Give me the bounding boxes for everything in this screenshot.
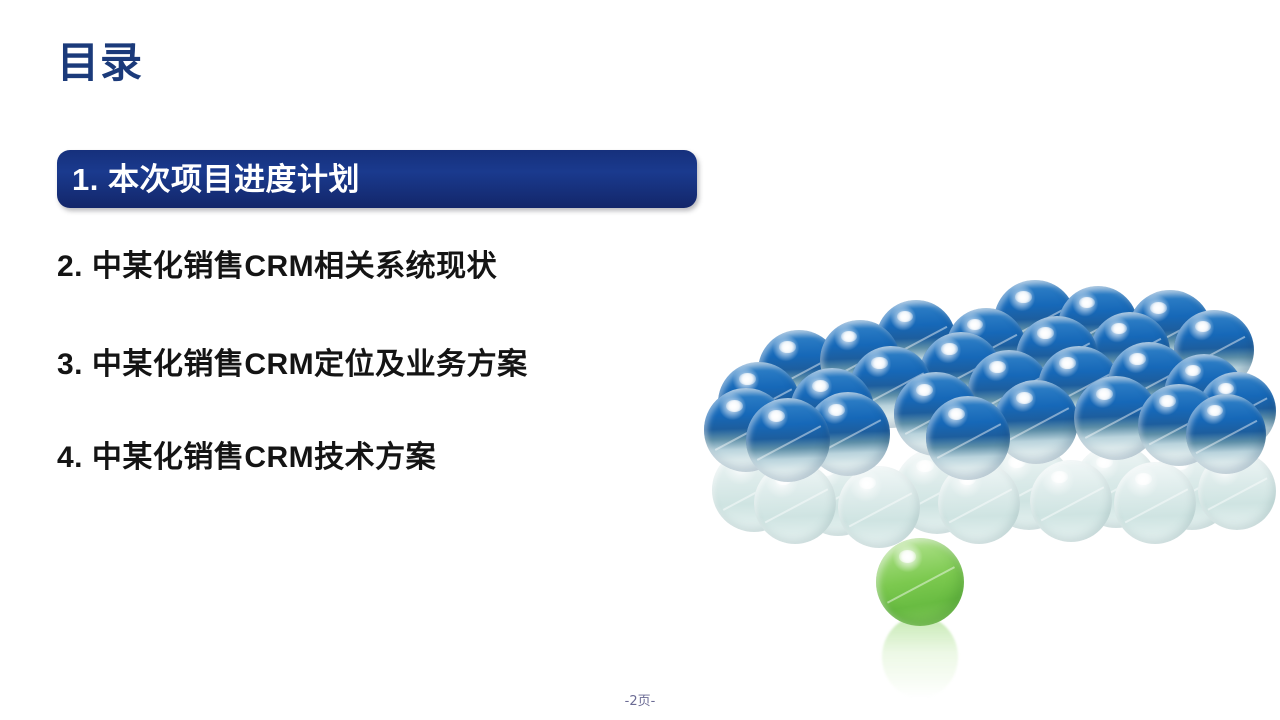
marble-highlight: [1185, 365, 1201, 376]
marble-highlight: [812, 380, 829, 392]
toc-item-3-label: 3. 中某化销售CRM定位及业务方案: [57, 350, 528, 380]
marble-streak: [936, 423, 1001, 459]
marble-highlight: [1207, 405, 1223, 416]
marble-highlight: [1129, 353, 1145, 364]
blue-marble: [1186, 394, 1266, 474]
toc-item-1-label: 1. 本次项目进度计划: [72, 164, 360, 195]
marble-highlight: [779, 341, 795, 352]
marble-highlight: [1195, 321, 1211, 332]
toc-item-2[interactable]: 2. 中某化销售CRM相关系统现状: [57, 252, 497, 282]
marble-highlight: [871, 357, 887, 368]
marble-streak: [1124, 488, 1187, 523]
marble-highlight: [1015, 291, 1031, 302]
marble-highlight: [1135, 473, 1151, 484]
toc-item-4-label: 4. 中某化销售CRM技术方案: [57, 443, 436, 473]
marble-highlight: [948, 408, 965, 420]
marble-streak: [1004, 407, 1069, 443]
blue-marble: [926, 396, 1010, 480]
toc-list: 1. 本次项目进度计划 2. 中某化销售CRM相关系统现状 3. 中某化销售CR…: [0, 0, 700, 560]
marble-highlight: [828, 404, 845, 416]
marble-highlight: [941, 343, 957, 354]
marble-highlight: [1051, 471, 1067, 482]
marble-highlight: [1159, 395, 1175, 406]
blue-marble: [746, 398, 830, 482]
toc-item-4[interactable]: 4. 中某化销售CRM技术方案: [57, 443, 436, 473]
marble-highlight: [841, 331, 857, 342]
marble-decoration-image: [698, 276, 1250, 668]
marble-highlight: [1079, 297, 1095, 308]
toc-slide: 目录 1. 本次项目进度计划 2. 中某化销售CRM相关系统现状 3. 中某化销…: [0, 0, 1280, 720]
marble-streak: [887, 566, 955, 603]
marble-highlight: [1096, 388, 1113, 400]
marble-highlight: [1218, 383, 1234, 394]
marble-highlight: [916, 460, 933, 472]
marble-streak: [1208, 477, 1268, 510]
marble-highlight: [768, 410, 785, 422]
marble-streak: [764, 488, 827, 523]
green-marble: [876, 538, 964, 626]
marble-highlight: [1037, 327, 1053, 338]
marble-highlight: [726, 400, 743, 412]
marble-highlight: [1111, 323, 1127, 334]
toc-item-2-label: 2. 中某化销售CRM相关系统现状: [57, 252, 497, 282]
marble-highlight: [989, 361, 1005, 372]
pale-marble: [1030, 460, 1112, 542]
marble-streak: [948, 488, 1011, 523]
marble-highlight: [897, 311, 913, 322]
marble-highlight: [967, 319, 983, 330]
marble-highlight: [739, 373, 755, 384]
marble-streak: [756, 425, 821, 461]
page-number-footer: -2页-: [0, 690, 1280, 709]
marble-highlight: [899, 550, 917, 562]
pale-marble: [1114, 462, 1196, 544]
marble-highlight: [859, 477, 875, 488]
green-marble-reflection: [882, 616, 958, 698]
marble-highlight: [1059, 357, 1075, 368]
marble-highlight: [916, 384, 933, 396]
pale-marble: [838, 466, 920, 548]
marble-streak: [1040, 486, 1103, 521]
marble-highlight: [1150, 302, 1167, 314]
toc-item-1[interactable]: 1. 本次项目进度计划: [57, 150, 697, 208]
marble-streak: [848, 492, 911, 527]
marble-streak: [1196, 420, 1258, 454]
marble-highlight: [1016, 392, 1033, 404]
toc-item-3[interactable]: 3. 中某化销售CRM定位及业务方案: [57, 350, 528, 380]
